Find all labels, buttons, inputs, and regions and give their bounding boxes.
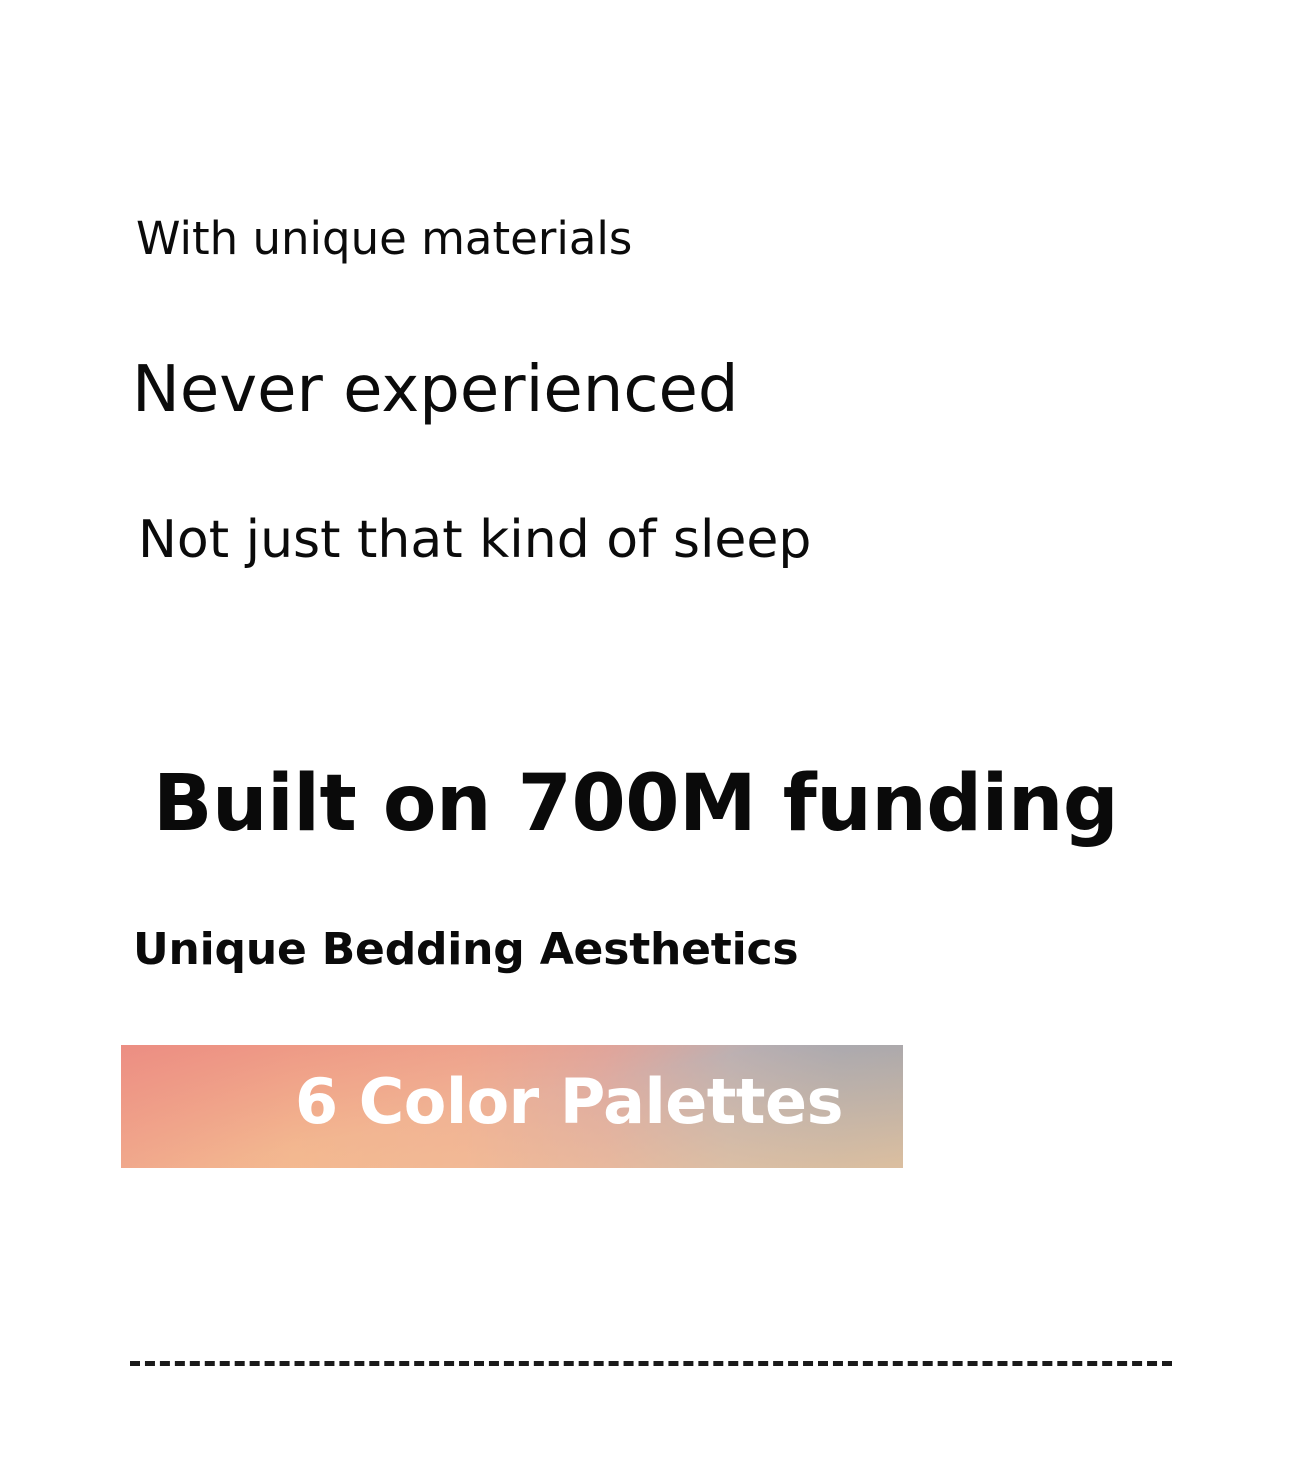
color-palette-gradient-band: 6 Color Palettes: [121, 1045, 903, 1168]
headline-not-just-that-kind-of-sleep: Not just that kind of sleep: [138, 514, 811, 566]
promo-canvas: With unique materials Never experienced …: [0, 0, 1300, 1482]
headline-built-on-700m-funding: Built on 700M funding: [153, 765, 1118, 843]
headline-never-experienced: Never experienced: [132, 358, 739, 422]
palette-band-label: 6 Color Palettes: [295, 1071, 843, 1133]
headline-with-unique-materials: With unique materials: [136, 216, 632, 261]
dashed-divider: [130, 1361, 1172, 1366]
headline-unique-bedding-aesthetics: Unique Bedding Aesthetics: [133, 928, 798, 972]
